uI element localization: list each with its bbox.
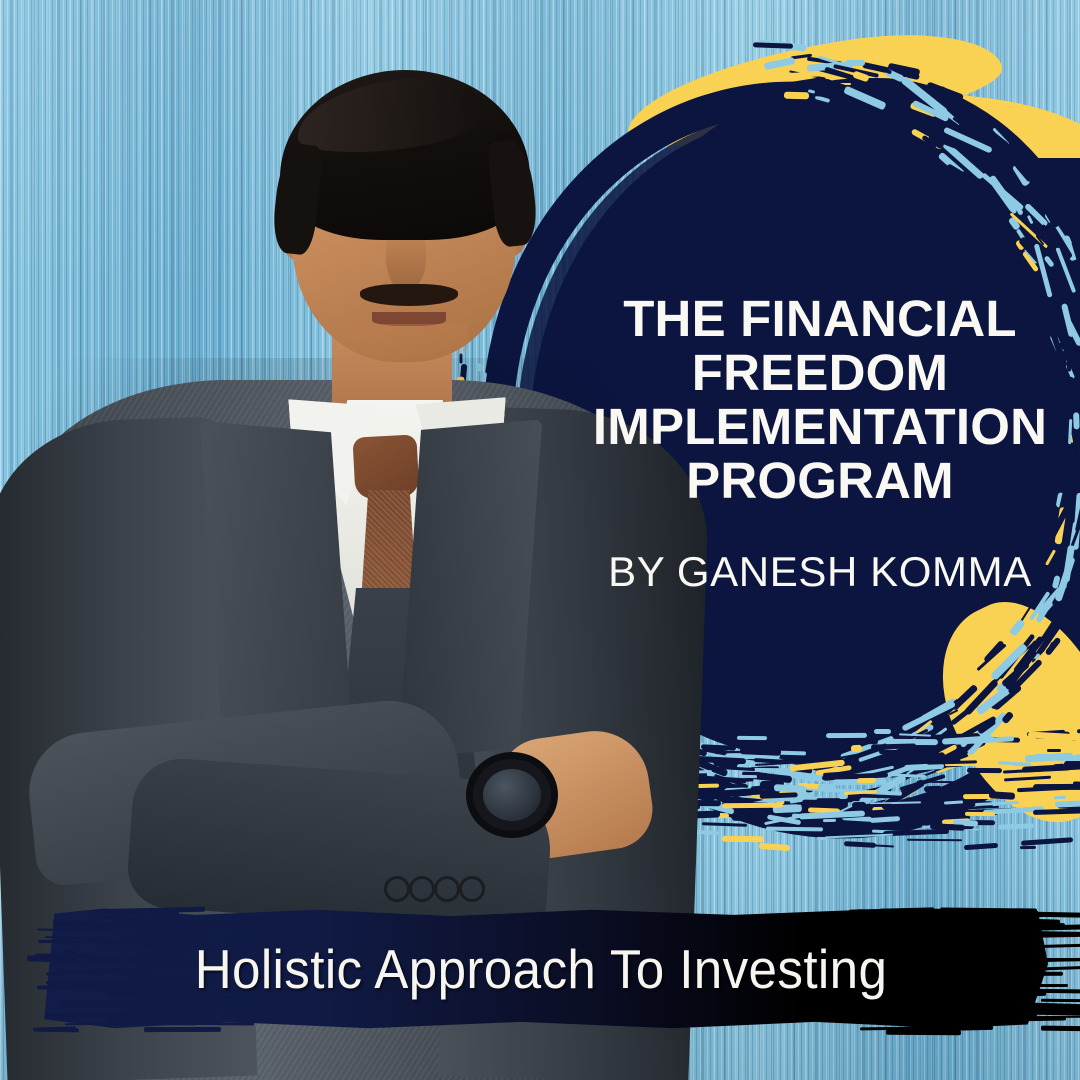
wristwatch bbox=[466, 752, 558, 838]
sleeve-buttons bbox=[384, 876, 480, 898]
tie-knot bbox=[352, 434, 419, 499]
poster-headline: THE FINANCIAL FREEDOM IMPLEMENTATION PRO… bbox=[560, 292, 1080, 508]
headline-line-1: THE FINANCIAL bbox=[560, 292, 1080, 346]
banner-tagline: Holistic Approach To Investing bbox=[69, 906, 1012, 1032]
bottom-banner: Holistic Approach To Investing bbox=[34, 906, 1048, 1032]
poster-canvas: THE FINANCIAL FREEDOM IMPLEMENTATION PRO… bbox=[0, 0, 1080, 1080]
poster-byline: BY GANESH KOMMA bbox=[560, 548, 1080, 596]
mustache bbox=[360, 284, 458, 306]
headline-line-3: IMPLEMENTATION bbox=[560, 400, 1080, 454]
headline-line-4: PROGRAM bbox=[560, 454, 1080, 508]
headline-line-2: FREEDOM bbox=[560, 346, 1080, 400]
chin bbox=[350, 324, 468, 368]
